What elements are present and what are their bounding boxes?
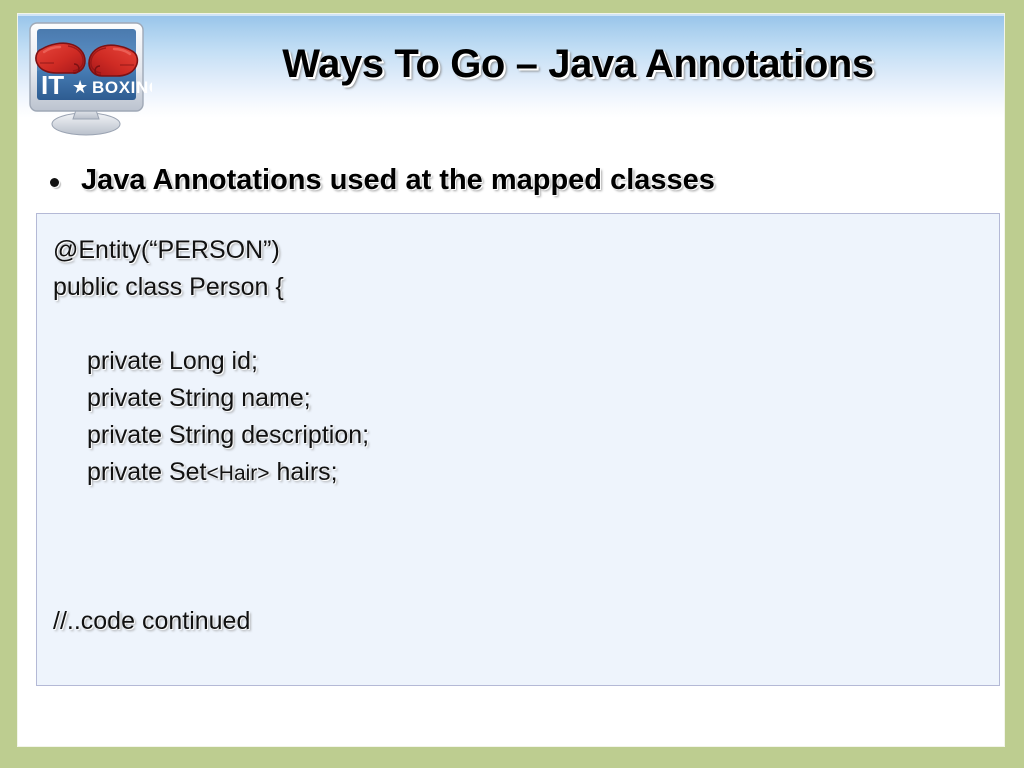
code-line: @Entity(“PERSON”) xyxy=(53,232,989,269)
bullet-text: Java Annotations used at the mapped clas… xyxy=(81,162,715,198)
code-line: private Set<Hair> hairs; xyxy=(53,454,989,492)
bullet-marker-icon xyxy=(50,178,59,187)
boxing-glove-right-icon xyxy=(89,45,137,76)
code-line: private String description; xyxy=(53,417,989,454)
code-line: private String name; xyxy=(53,380,989,417)
code-line: private Long id; xyxy=(53,343,989,380)
code-line: public class Person { xyxy=(53,269,989,306)
code-line xyxy=(53,566,989,603)
logo-text-it: IT xyxy=(41,70,64,100)
boxing-glove-left-icon xyxy=(36,43,85,73)
logo-star-icon: ★ xyxy=(72,77,88,97)
generic-type-parameter: <Hair> xyxy=(207,462,270,485)
code-lines-container: @Entity(“PERSON”)public class Person { p… xyxy=(53,232,989,640)
bullet-list-item: Java Annotations used at the mapped clas… xyxy=(50,162,715,198)
it-boxing-logo: IT ★ BOXING xyxy=(24,19,152,137)
slide-frame: Ways To Go – Java Annotations xyxy=(0,0,1024,768)
logo-text-boxing: BOXING xyxy=(92,78,152,97)
code-line xyxy=(53,306,989,343)
page-title: Ways To Go – Java Annotations xyxy=(168,40,988,88)
code-line xyxy=(53,529,989,566)
code-line xyxy=(53,492,989,529)
code-block-panel: @Entity(“PERSON”)public class Person { p… xyxy=(36,213,1000,686)
code-line: //..code continued xyxy=(53,603,989,640)
slide-canvas: Ways To Go – Java Annotations xyxy=(18,14,1004,746)
